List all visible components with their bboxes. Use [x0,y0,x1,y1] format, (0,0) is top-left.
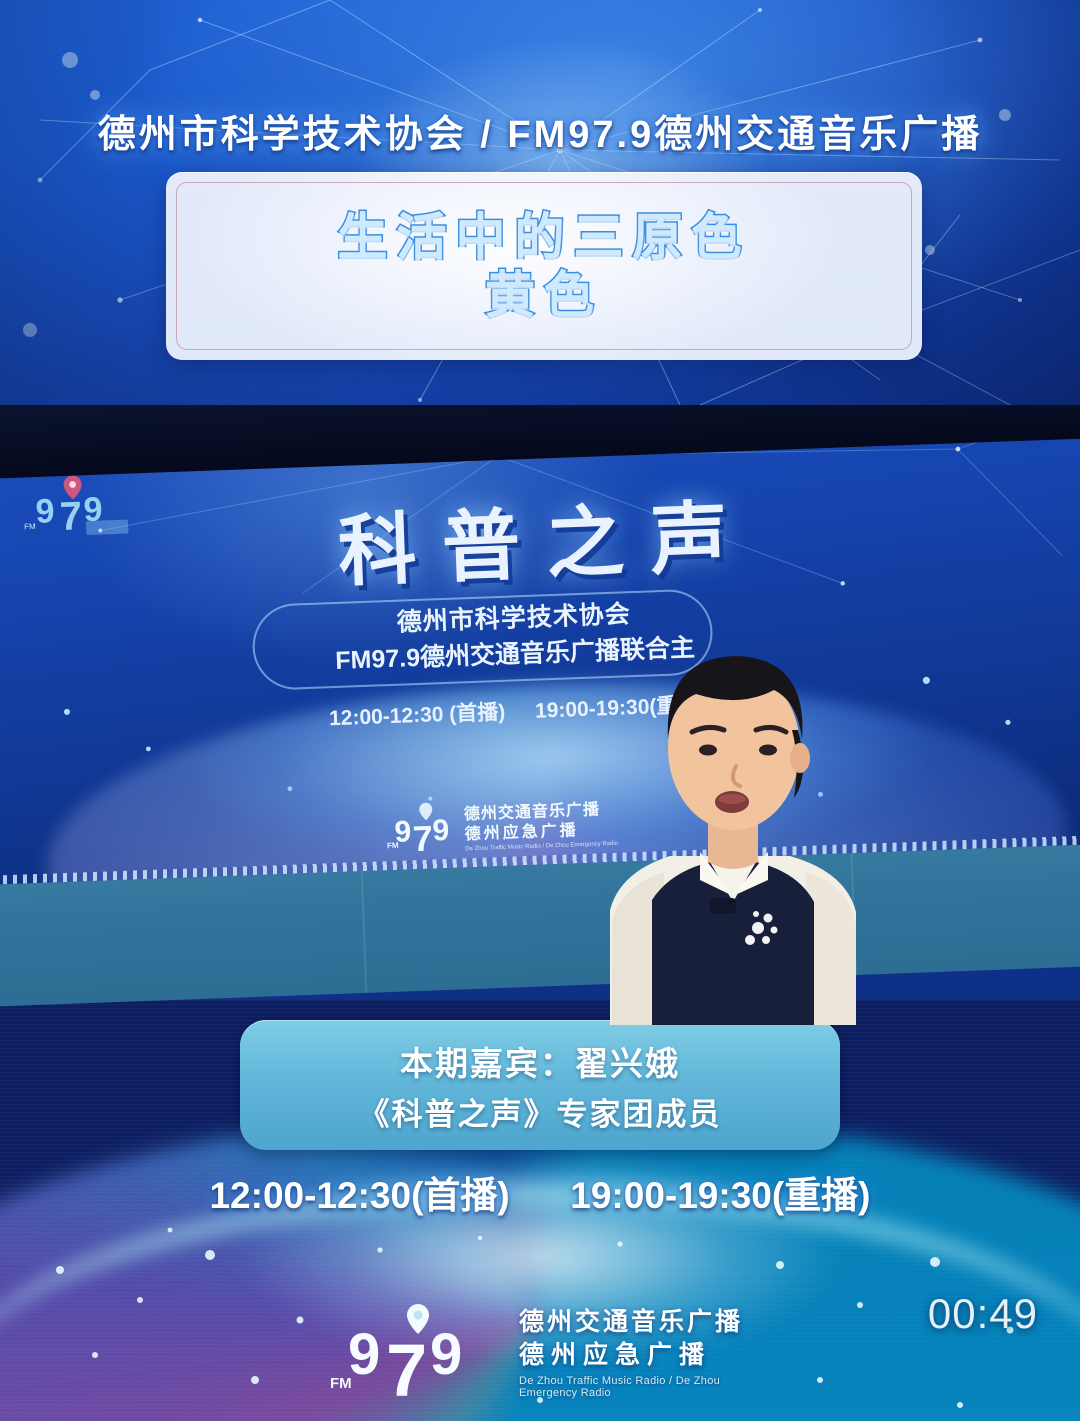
info-panel: 本期嘉宾：翟兴娥 《科普之声》专家团成员 12:00-12:30(首播) 19:… [0,1000,1080,1421]
station-logo-text: 德州交通音乐广播 德州应急广播 De Zhou Traffic Music Ra… [519,1301,750,1399]
led-video-wall: 科普之声 德州市科学技术协会 FM97.9德州交通音乐广播联合主 12:00-1… [0,405,1080,885]
broadcast-first-run: 12:00-12:30(首播) [209,1175,509,1216]
guest-name-line: 本期嘉宾：翟兴娥 [400,1037,680,1085]
guest-info-banner: 本期嘉宾：翟兴娥 《科普之声》专家团成员 [240,1020,840,1150]
fm-979-logo-icon: 9 7 9 FM [330,1296,505,1404]
svg-text:9: 9 [348,1322,380,1387]
page-title: 德州市科学技术协会 / FM97.9德州交通音乐广播 [0,103,1080,158]
episode-title-card: 生活中的三原色 黄色 [166,172,922,360]
hero-section: 德州市科学技术协会 / FM97.9德州交通音乐广播 生活中的三原色 黄色 [0,0,1080,410]
episode-title-card-inner: 生活中的三原色 黄色 [176,182,912,350]
svg-text:9: 9 [430,1322,462,1387]
episode-title-line-2: 黄色 [485,267,603,323]
fm-label: FM [330,1375,352,1392]
station-name-english: De Zhou Traffic Music Radio / De Zhou Em… [519,1375,750,1399]
svg-text:7: 7 [386,1329,427,1404]
svg-text:9: 9 [35,492,55,531]
studio-video-frame[interactable]: 科普之声 德州市科学技术协会 FM97.9德州交通音乐广播联合主 12:00-1… [0,405,1080,1025]
poster-root: 德州市科学技术协会 / FM97.9德州交通音乐广播 生活中的三原色 黄色 [0,0,1080,1421]
corner-979-logo-icon: 9 7 9 FM [20,467,132,541]
broadcast-rerun: 19:00-19:30(重播) [570,1175,870,1216]
guest-speaker-figure [560,580,900,1025]
svg-text:FM: FM [387,841,399,850]
station-logo: 9 7 9 FM 德州交通音乐广播 德州应急广播 De Zhou Traffic… [330,1295,750,1405]
svg-text:FM: FM [24,522,36,531]
episode-title-line-1: 生活中的三原色 [338,209,751,265]
svg-text:7: 7 [59,494,83,539]
video-timecode: 00:49 [928,1290,1038,1338]
program-time-first: 12:00-12:30 (首播) [329,701,506,730]
station-name-line-2: 德州应急广播 [519,1340,750,1371]
station-name-line-1: 德州交通音乐广播 [519,1307,750,1338]
svg-text:7: 7 [412,818,434,859]
svg-text:9: 9 [432,814,450,848]
guest-role-line: 《科普之声》专家团成员 [359,1089,722,1134]
broadcast-times: 12:00-12:30(首播) 19:00-19:30(重播) [0,1165,1080,1219]
